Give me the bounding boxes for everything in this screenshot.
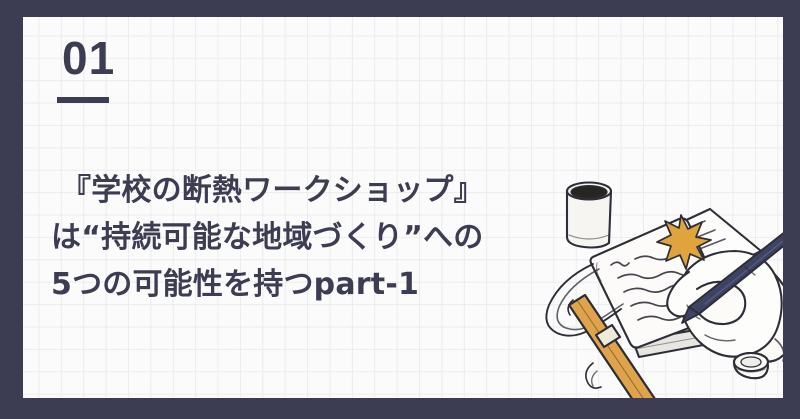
page-title-line-2: は“持続可能な地域づくり”への (51, 214, 571, 261)
card-canvas: 01 『学校の断熱ワークショップ』 は“持続可能な地域づくり”への 5つの可能性… (23, 17, 783, 398)
page-title-line-1: 『学校の断熱ワークショップ』 (51, 167, 571, 214)
card-content: 01 『学校の断熱ワークショップ』 は“持続可能な地域づくり”への 5つの可能性… (23, 17, 783, 398)
page-title: 『学校の断熱ワークショップ』 は“持続可能な地域づくり”への 5つの可能性を持つ… (51, 167, 571, 308)
ring-icon (734, 353, 768, 378)
page-title-line-3: 5つの可能性を持つpart-1 (51, 261, 571, 308)
section-number: 01 (57, 35, 115, 81)
slide-card: 01 『学校の断熱ワークショップ』 は“持続可能な地域づくり”への 5つの可能性… (0, 0, 800, 419)
hand-writing-illustration-svg (539, 159, 783, 398)
section-number-underline (57, 97, 109, 103)
coffee-mug-icon (567, 183, 611, 248)
hand-writing-illustration (539, 159, 783, 398)
section-number-block: 01 (57, 35, 115, 103)
